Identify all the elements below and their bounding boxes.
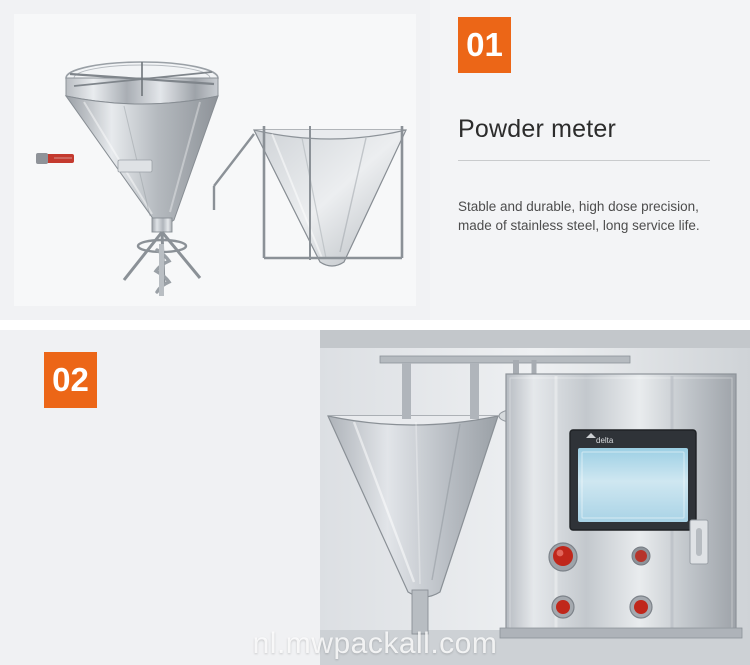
operation-panel-image: delta [320,330,750,665]
panel-01-divider [458,160,710,161]
feature-panel-01-text: 01 Powder meter Stable and durable, high… [430,0,750,320]
hmi-brand-label: delta [596,436,614,445]
powder-meter-photo-frame [14,14,416,306]
panel-02-number: 02 [44,352,97,408]
powder-meter-illustration [14,14,416,306]
feature-panel-01: 01 Powder meter Stable and durable, high… [0,0,750,320]
product-feature-page: 01 Powder meter Stable and durable, high… [0,0,750,665]
panel-01-title: Powder meter [458,115,712,144]
operation-panel-illustration: delta [320,330,750,665]
panel-01-body: Stable and durable, high dose precision,… [458,197,726,235]
feature-panel-02: delta 02 Ope [0,330,750,665]
powder-meter-image [0,0,430,320]
panel-01-number: 01 [458,17,511,73]
